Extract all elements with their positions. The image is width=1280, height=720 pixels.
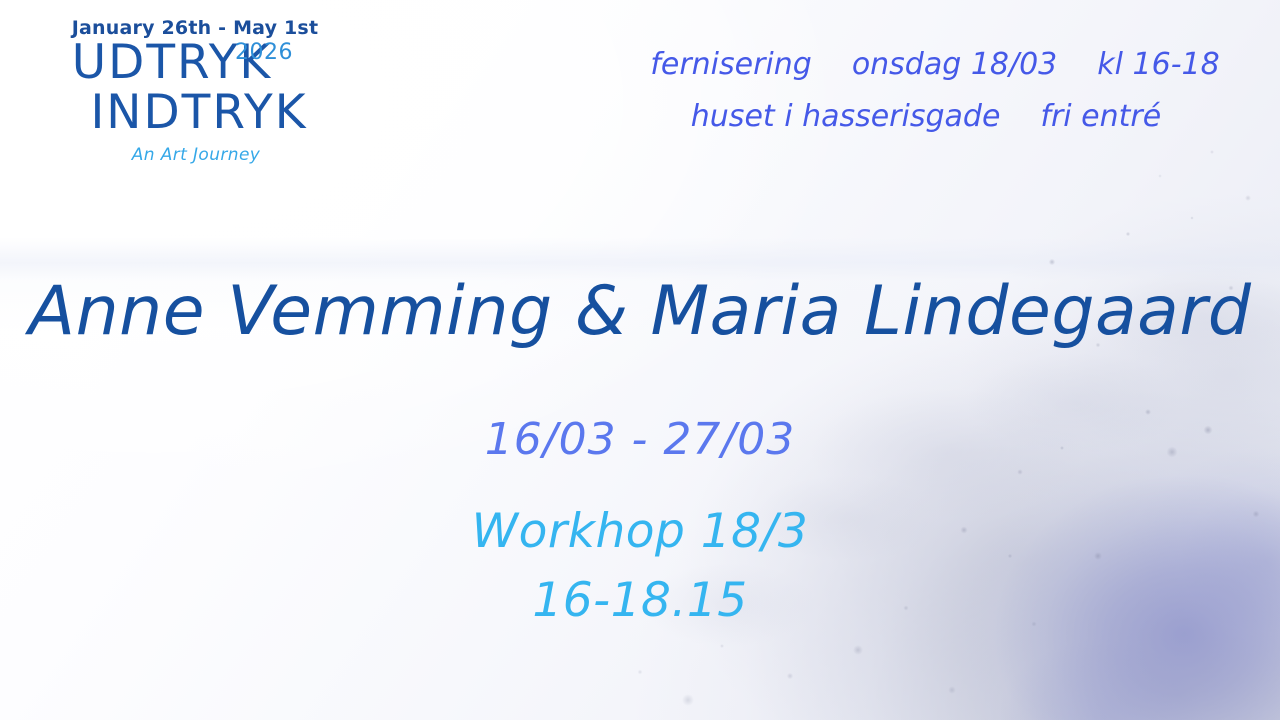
workshop-block: Workhop 18/3 16-18.15	[0, 508, 1280, 624]
event-info-line-2: huset i hasserisgade fri entré	[620, 102, 1250, 132]
event-info-weekday-date: onsdag 18/03	[852, 50, 1057, 80]
workshop-title: Workhop 18/3	[0, 508, 1280, 555]
event-info-time: kl 16-18	[1097, 50, 1219, 80]
artists-headline: Anne Vemming & Maria Lindegaard	[0, 278, 1280, 346]
logo-word-row-top: UDTRYK 2026	[0, 40, 390, 86]
event-info-venue: huset i hasserisgade	[691, 102, 1001, 132]
poster-canvas: January 26th - May 1st UDTRYK 2026 INDTR…	[0, 0, 1280, 720]
logo-tagline: An Art Journey	[2, 145, 390, 165]
event-info-entry: fri entré	[1040, 102, 1161, 132]
workshop-time: 16-18.15	[0, 577, 1280, 624]
event-info-line-1: fernisering onsdag 18/03 kl 16-18	[620, 50, 1250, 80]
event-info-block: fernisering onsdag 18/03 kl 16-18 huset …	[620, 50, 1250, 132]
event-info-fernisering: fernisering	[650, 50, 812, 80]
poster-content: January 26th - May 1st UDTRYK 2026 INDTR…	[0, 0, 1280, 720]
logo-word-indtryk: INDTRYK	[8, 89, 390, 136]
exhibition-date-range: 16/03 - 27/03	[0, 418, 1280, 462]
logo-block: January 26th - May 1st UDTRYK 2026 INDTR…	[0, 18, 390, 165]
logo-year: 2026	[235, 42, 293, 64]
